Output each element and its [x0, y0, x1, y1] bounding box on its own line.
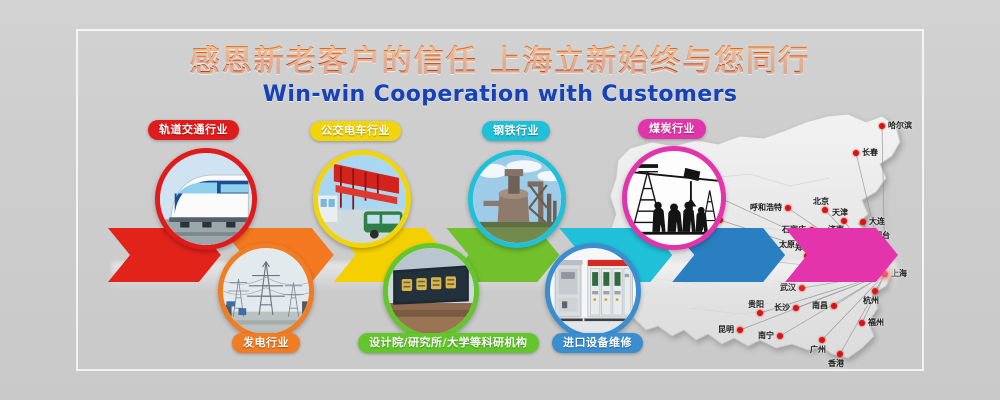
band-segment-coal	[785, 228, 898, 282]
city-dot-icon	[831, 303, 837, 309]
city-label: 昆明	[718, 324, 734, 335]
university-sign-icon	[388, 248, 474, 334]
city-dot-icon	[872, 288, 878, 294]
city-label: 福州	[868, 317, 884, 328]
industry-label-badge[interactable]: 进口设备维修	[552, 333, 643, 353]
high-speed-train-icon	[160, 153, 252, 245]
city-label: 香港	[828, 358, 844, 369]
industry-label-badge[interactable]: 公交电车行业	[310, 121, 401, 141]
industry-node[interactable]	[218, 243, 314, 339]
coal-derrick-icon	[627, 151, 721, 245]
blast-furnace-icon	[473, 155, 561, 243]
switchgear-cabinet-icon	[550, 248, 636, 334]
city-label: 贵阳	[748, 299, 764, 310]
city-dot-icon	[785, 205, 791, 211]
city-dot-icon	[737, 327, 743, 333]
city-label: 杭州	[863, 295, 879, 306]
industry-photo-ring[interactable]	[468, 150, 566, 248]
city-label: 长沙	[774, 302, 790, 313]
promo-banner: 感恩新老客户的信任 上海立新始终与您同行 Win-win Cooperation…	[0, 0, 1000, 400]
industry-node[interactable]	[383, 243, 479, 339]
city-dot-icon	[799, 285, 805, 291]
industry-photo-ring[interactable]	[218, 243, 314, 339]
city-dot-icon	[837, 351, 843, 357]
city-dot-icon	[860, 219, 866, 225]
headline-block: 感恩新老客户的信任 上海立新始终与您同行 Win-win Cooperation…	[0, 44, 1000, 107]
industry-label-badge[interactable]: 煤炭行业	[638, 119, 706, 139]
city-label: 北京	[813, 196, 829, 207]
industry-node[interactable]	[468, 150, 566, 248]
power-pylon-icon	[223, 248, 309, 334]
industry-node[interactable]	[313, 150, 411, 248]
industry-label-badge[interactable]: 发电行业	[232, 333, 300, 353]
city-dot-icon	[822, 207, 828, 213]
city-dot-icon	[793, 305, 799, 311]
city-bus-icon	[318, 155, 406, 243]
industry-photo-ring[interactable]	[313, 150, 411, 248]
city-label: 长春	[862, 147, 878, 158]
city-dot-icon	[757, 310, 763, 316]
industry-node[interactable]	[545, 243, 641, 339]
industry-photo-ring[interactable]	[545, 243, 641, 339]
page-title-chinese: 感恩新老客户的信任 上海立新始终与您同行	[0, 44, 1000, 80]
industry-label-badge[interactable]: 轨道交通行业	[148, 120, 239, 140]
city-label: 南昌	[812, 300, 828, 311]
industry-label-badge[interactable]: 设计院/研究所/大学等科研机构	[358, 333, 539, 353]
city-label: 呼和浩特	[750, 202, 782, 213]
industry-node[interactable]	[155, 148, 257, 250]
city-label: 广州	[810, 344, 826, 355]
industry-photo-ring[interactable]	[383, 243, 479, 339]
city-label: 武汉	[780, 282, 796, 293]
industry-photo-ring[interactable]	[155, 148, 257, 250]
city-dot-icon	[859, 320, 865, 326]
city-label: 南宁	[758, 330, 774, 341]
city-label: 大连	[869, 216, 885, 227]
city-label: 哈尔滨	[888, 120, 912, 131]
city-dot-icon	[777, 333, 783, 339]
city-label: 天津	[832, 207, 848, 218]
city-dot-icon	[819, 337, 825, 343]
page-title-english: Win-win Cooperation with Customers	[0, 82, 1000, 107]
city-dot-icon	[879, 123, 885, 129]
industry-node[interactable]	[622, 146, 726, 250]
industry-photo-ring[interactable]	[622, 146, 726, 250]
city-dot-icon	[853, 150, 859, 156]
industry-label-badge[interactable]: 钢铁行业	[482, 121, 550, 141]
